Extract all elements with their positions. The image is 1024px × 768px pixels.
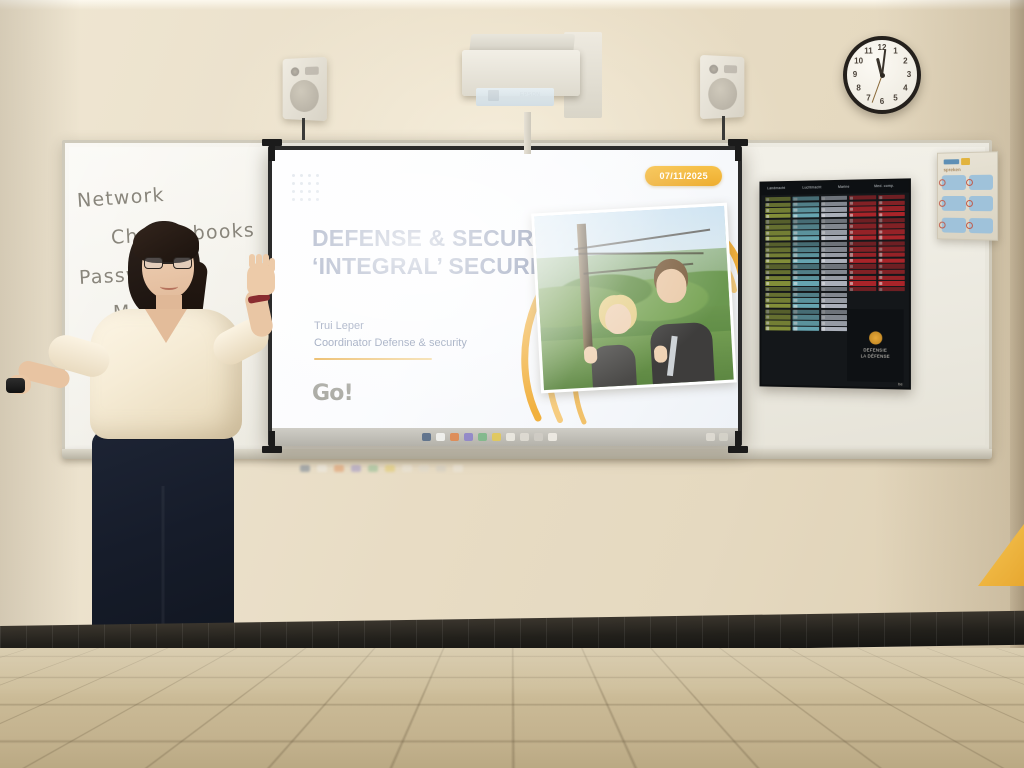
rank-chart-cell (765, 202, 791, 207)
clock-numeral-5: 5 (890, 93, 902, 102)
reflected-start-icon (300, 465, 310, 472)
rank-chart-cell (821, 321, 847, 326)
rank-chart-cell (793, 304, 819, 308)
speaker-right-cable (722, 116, 725, 140)
rank-chart-cell (849, 212, 876, 217)
wall-clock: 121234567891011 (843, 36, 921, 114)
window-icon[interactable] (534, 433, 543, 441)
rank-chart-cell (765, 281, 791, 285)
rank-chart-cell (765, 225, 791, 230)
clock-numeral-8: 8 (853, 84, 865, 93)
reflected-window-icon (436, 465, 446, 472)
poster-header (944, 158, 970, 165)
rank-chart-header: LandmachtLuchtmachtMarineMed. comp. (761, 180, 908, 195)
projector-mount-stem (524, 112, 531, 154)
reflected-notes-icon (385, 465, 395, 472)
rank-chart-cell (793, 281, 819, 285)
rank-chart-cell (821, 281, 847, 285)
rank-chart-cell (821, 201, 847, 206)
rank-chart-cell (793, 253, 819, 258)
presenter-person (0, 215, 300, 680)
speaker-left-cable (302, 118, 305, 140)
presenter-role: Coordinator Defense & security (314, 335, 544, 352)
poster-speech-bubble (942, 196, 966, 211)
rank-chart-cell (765, 259, 791, 263)
rank-chart-cell (878, 235, 905, 240)
rank-chart-cell (793, 287, 819, 291)
reflected-browser-icon (334, 465, 344, 472)
rank-chart-cell (793, 259, 819, 263)
decor-dot (300, 174, 303, 177)
rank-chart-cell (849, 247, 876, 252)
rank-chart-cell (765, 214, 791, 219)
rank-chart-cell (821, 310, 847, 315)
rank-chart-cell (849, 287, 876, 291)
rank-chart-logo-block: DEFENSIE LA DÉFENSE (847, 309, 904, 382)
presenter-smile (160, 283, 178, 290)
rank-chart-cell (765, 298, 791, 302)
rank-chart-cell (793, 321, 819, 326)
briefcase-icon[interactable] (548, 433, 557, 441)
rank-chart-cell (765, 219, 791, 224)
projector: EPSON (452, 26, 602, 112)
presentation-clicker[interactable] (6, 378, 25, 393)
poster-speech-bubble (968, 196, 993, 211)
rank-chart-cell (793, 264, 819, 268)
decor-dot (308, 198, 311, 201)
presenter-right-hand (247, 263, 275, 295)
go-logo: Go! (312, 381, 353, 406)
reflected-briefcase-icon (453, 465, 463, 472)
rank-chart-cell (849, 224, 876, 229)
screen-mount-top-right (728, 139, 748, 146)
rank-chart-cell (765, 287, 791, 291)
rank-chart-cell (821, 241, 847, 246)
military-rank-chart-poster: LandmachtLuchtmachtMarineMed. comp. DEFE… (759, 178, 910, 389)
rank-chart-column (793, 196, 819, 381)
tray-volume-icon[interactable] (719, 433, 728, 441)
presentation-slide[interactable]: 07/11/2025 DEFENSE & SECURITY ‘INTEGRAL’… (272, 150, 738, 428)
taskbar-reflection (300, 455, 720, 481)
reflected-folder-icon (402, 465, 412, 472)
speaker-left (283, 57, 327, 121)
reflected-file-explorer-icon (317, 465, 327, 472)
rank-chart-cell (878, 200, 905, 205)
home-icon[interactable] (520, 433, 529, 441)
file-explorer-icon[interactable] (436, 433, 445, 441)
rank-chart-cell (849, 235, 876, 240)
start-icon[interactable] (422, 433, 431, 441)
rank-chart-cell (765, 321, 791, 326)
media-icon[interactable] (464, 433, 473, 441)
rank-chart-cell (878, 270, 905, 275)
rank-chart-header-2: Marine (838, 185, 850, 189)
classroom-scene: Network Chromebooks Passwo M o ! 07/11/2… (0, 0, 1024, 768)
folder-icon[interactable] (506, 433, 515, 441)
rank-chart-cell (821, 230, 847, 235)
rank-chart-cell (878, 195, 905, 200)
rank-chart-cell (821, 224, 847, 229)
rank-chart-cell (793, 247, 819, 252)
rank-chart-cell (821, 264, 847, 268)
rank-chart-cell (793, 310, 819, 315)
rank-chart-cell (849, 195, 876, 200)
projection-screen[interactable]: 07/11/2025 DEFENSE & SECURITY ‘INTEGRAL’… (268, 146, 742, 446)
windows-taskbar[interactable] (272, 428, 738, 446)
decor-dot (300, 190, 303, 193)
rank-chart-cell (849, 276, 876, 280)
speaker-left-logo (305, 66, 319, 74)
footer-title-fr: LA DÉFENSE (861, 353, 890, 358)
rank-chart-cell (765, 315, 791, 320)
clock-numeral-10: 10 (853, 57, 865, 66)
poster-speech-bubble (942, 175, 966, 190)
screen-mount-bottom-right (728, 446, 748, 453)
rank-chart-cell (821, 213, 847, 218)
clock-numeral-1: 1 (890, 47, 902, 56)
projector-lens (476, 88, 554, 106)
clock-numeral-9: 9 (849, 70, 861, 79)
rank-chart-cell (878, 247, 905, 252)
reflected-home-icon (419, 465, 429, 472)
speaker-left-tweeter (291, 67, 299, 76)
rank-chart-cell (793, 225, 819, 230)
poster-speech-bubble (968, 175, 993, 190)
rank-chart-cell (765, 293, 791, 297)
rank-chart-cell (821, 253, 847, 258)
rank-chart-cell (821, 258, 847, 263)
poster-title: spreken (944, 167, 961, 172)
poster-header-accent (961, 158, 970, 165)
tray-network-icon[interactable] (706, 433, 715, 441)
clock-numeral-3: 3 (903, 70, 915, 79)
photo-content (534, 206, 733, 390)
rank-chart-cell (878, 258, 905, 263)
rank-chart-cell (821, 219, 847, 224)
rank-chart-cell (821, 276, 847, 280)
reflected-media-icon (351, 465, 361, 472)
rank-chart-cell (765, 208, 791, 213)
speaker-right-tweeter (709, 65, 718, 74)
rank-chart-cell (821, 293, 847, 297)
finger-4 (269, 258, 275, 272)
go-logo-mark: ! (344, 381, 353, 406)
decor-dot (300, 182, 303, 185)
slide-photo (531, 203, 737, 394)
speaker-left-cone (290, 80, 319, 113)
rank-chart-cell (765, 197, 791, 202)
decor-dot (308, 190, 311, 193)
go-logo-text: Go (312, 381, 344, 406)
rank-chart-cell (878, 212, 905, 217)
rank-chart-cell (793, 298, 819, 302)
rank-chart-cell (765, 270, 791, 274)
poster-speech-bubble (968, 218, 993, 234)
rank-chart-cell (849, 270, 876, 274)
rank-chart-cell (765, 309, 791, 313)
rank-chart-cell (821, 236, 847, 241)
rank-chart-cell (849, 281, 876, 285)
glasses-lens-left (144, 257, 163, 269)
rank-chart-cell (821, 247, 847, 252)
rank-chart-cell (821, 315, 847, 320)
rank-chart-cell (849, 241, 876, 246)
rank-chart-cell (878, 276, 905, 280)
decor-dot (316, 190, 319, 193)
classroom-poster: spreken (937, 151, 998, 241)
defence-emblem-icon (869, 331, 882, 344)
clock-numeral-7: 7 (863, 93, 875, 102)
rank-chart-cell (765, 231, 791, 236)
rank-chart-column (765, 197, 791, 381)
poster-speech-bubble (942, 217, 966, 232)
rank-chart-cell (878, 206, 905, 211)
rank-chart-cell (765, 253, 791, 257)
rank-chart-cell (765, 248, 791, 253)
screen-mount-top-left (262, 139, 282, 146)
rank-chart-cell (821, 327, 847, 332)
rank-chart-cell (821, 196, 847, 201)
presenter-glasses (144, 257, 192, 269)
glasses-lens-right (173, 257, 192, 269)
rank-chart-cell (793, 326, 819, 331)
decor-dot (292, 190, 295, 193)
rank-chart-cell (821, 207, 847, 212)
decor-dot (292, 174, 295, 177)
rank-chart-cell (849, 201, 876, 206)
rank-chart-cell (849, 218, 876, 223)
clock-numeral-4: 4 (899, 84, 911, 93)
rank-chart-cell (765, 304, 791, 308)
clock-numeral-11: 11 (863, 47, 875, 56)
rank-chart-footer-title: DEFENSIE LA DÉFENSE (861, 347, 890, 359)
glasses-bridge (163, 262, 173, 264)
decor-dot (308, 182, 311, 185)
decor-dot (316, 174, 319, 177)
footer-title-nl: DEFENSIE (863, 348, 887, 353)
rank-chart-cell (793, 293, 819, 297)
rank-chart-cell (849, 264, 876, 269)
poster-header-chip (944, 159, 959, 164)
clock-numeral-2: 2 (899, 57, 911, 66)
speaker-right-logo (724, 65, 737, 73)
rank-chart-cell (878, 224, 905, 229)
finger-2 (256, 254, 262, 268)
rank-chart-cell (849, 230, 876, 235)
rank-chart-cell (878, 287, 905, 291)
decor-dot (300, 198, 303, 201)
decor-dot (308, 174, 311, 177)
browser-icon[interactable] (450, 433, 459, 441)
speaker-right-cone (708, 78, 737, 111)
rank-chart-cell (793, 213, 819, 218)
decor-dot (292, 182, 295, 185)
presenter-underline (314, 358, 432, 360)
rank-chart-cell (821, 287, 847, 291)
rank-chart-cell (821, 304, 847, 309)
rank-chart-cell (793, 270, 819, 274)
rank-chart-header-0: Landmacht (767, 186, 785, 190)
clock-numeral-12: 12 (876, 43, 888, 52)
rank-chart-cell (821, 270, 847, 274)
floor-light-sheen (0, 648, 1024, 698)
rank-chart-cell (878, 252, 905, 257)
decor-dot (292, 198, 295, 201)
reflected-mail-icon (368, 465, 378, 472)
rank-chart-cell (878, 229, 905, 234)
rank-chart-header-1: Luchtmacht (802, 185, 821, 189)
rank-chart-cell (793, 236, 819, 241)
rank-chart-corner-mark: be (898, 381, 903, 386)
rank-chart-cell (793, 219, 819, 224)
rank-chart-cell (793, 196, 819, 201)
rank-chart-header-3: Med. comp. (874, 184, 894, 188)
rank-chart-cell (765, 242, 791, 247)
rank-chart-cell (878, 241, 905, 246)
rank-chart-cell (793, 242, 819, 247)
decor-dot (316, 182, 319, 185)
rank-chart-cell (793, 230, 819, 235)
rank-chart-column (821, 196, 847, 383)
photo-glare (534, 206, 733, 390)
finger-1 (249, 254, 255, 268)
presenter-name: Trui Leper (314, 318, 544, 335)
notes-icon[interactable] (492, 433, 501, 441)
slide-presenter-block: Trui Leper Coordinator Defense & securit… (314, 318, 544, 360)
rank-chart-cell (765, 236, 791, 241)
rank-chart-cell (878, 218, 905, 223)
poster-bubbles (942, 175, 993, 237)
rank-chart-cell (821, 298, 847, 302)
mail-icon[interactable] (478, 433, 487, 441)
rank-chart-cell (793, 208, 819, 213)
rank-chart-cell (849, 253, 876, 258)
rank-chart-cell (878, 264, 905, 269)
rank-chart-cell (793, 276, 819, 280)
rank-chart-cell (849, 258, 876, 263)
rank-chart-cell (878, 281, 905, 285)
rank-chart-cell (793, 315, 819, 320)
rank-chart-cell (765, 264, 791, 268)
dot-grid-decoration (292, 174, 319, 201)
decor-dot (316, 198, 319, 201)
taskbar-tray[interactable] (706, 433, 732, 441)
clock-numeral-6: 6 (876, 97, 888, 106)
rank-chart-cell (849, 207, 876, 212)
clock-center-pin (880, 73, 885, 78)
rank-chart-cell (793, 202, 819, 207)
rank-chart-cell (765, 326, 791, 331)
speaker-right (700, 55, 744, 119)
rank-chart-cell (765, 276, 791, 280)
